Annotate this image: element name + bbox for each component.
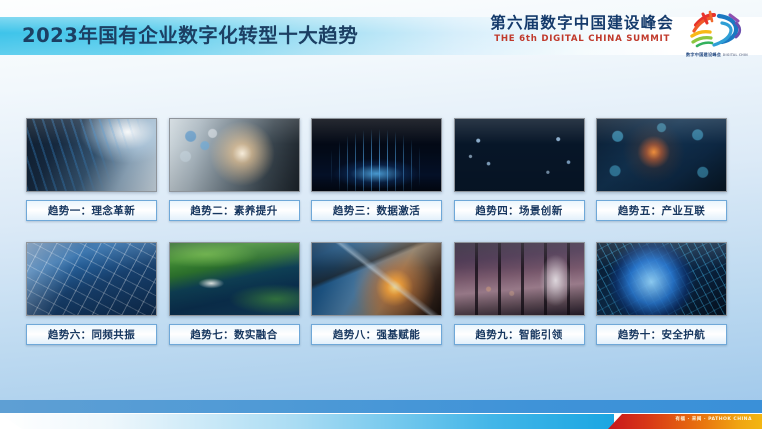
robot-city-window-image bbox=[454, 242, 585, 316]
summit-title-en: THE 6th DIGITAL CHINA SUMMIT bbox=[490, 35, 674, 44]
trend-card-row-2: 趋势六：同频共振 趋势七：数实融合 趋势八：强基赋能 bbox=[26, 242, 738, 345]
logo-caption: 数字中国建设峰会 DIGITAL CHINA SUMMIT bbox=[686, 52, 748, 58]
blue-globe-circuit-security-image bbox=[596, 242, 727, 316]
trend-card-1-label: 趋势一：理念革新 bbox=[26, 200, 157, 221]
slide-footer: 有福 · 来闽 · PATHOK CHINA bbox=[0, 400, 762, 429]
logo-caption-cn: 数字中国建设峰会 bbox=[686, 52, 721, 57]
trend-card-8[interactable]: 趋势八：强基赋能 bbox=[311, 242, 442, 345]
trend-card-6-label: 趋势六：同频共振 bbox=[26, 324, 157, 345]
modern-building-sunrise-image bbox=[311, 242, 442, 316]
summit-branding: 第六届数字中国建设峰会 THE 6th DIGITAL CHINA SUMMIT bbox=[490, 16, 674, 43]
industrial-iot-hub-image bbox=[596, 118, 727, 192]
trend-card-5[interactable]: 趋势五：产业互联 bbox=[596, 118, 727, 221]
page-title: 2023年国有企业数字化转型十大趋势 bbox=[22, 19, 358, 53]
trend-card-10-label: 趋势十：安全护航 bbox=[596, 324, 727, 345]
trend-card-9[interactable]: 趋势九：智能引领 bbox=[454, 242, 585, 345]
footer-blue-band bbox=[0, 400, 762, 413]
trend-card-10[interactable]: 趋势十：安全护航 bbox=[596, 242, 727, 345]
trend-card-8-label: 趋势八：强基赋能 bbox=[311, 324, 442, 345]
trend-card-3-label: 趋势三：数据激活 bbox=[311, 200, 442, 221]
trend-card-5-label: 趋势五：产业互联 bbox=[596, 200, 727, 221]
digital-china-summit-logo: 数字中国建设峰会 DIGITAL CHINA SUMMIT bbox=[686, 9, 748, 59]
presentation-slide: 2023年国有企业数字化转型十大趋势 第六届数字中国建设峰会 THE 6th D… bbox=[0, 0, 762, 429]
footer-slogan: 有福 · 来闽 · PATHOK CHINA bbox=[675, 416, 752, 422]
network-light-burst-image bbox=[454, 118, 585, 192]
trend-card-row-1: 趋势一：理念革新 趋势二：素养提升 趋势三：数据激活 bbox=[26, 118, 738, 221]
trend-card-4[interactable]: 趋势四：场景创新 bbox=[454, 118, 585, 221]
trend-card-6[interactable]: 趋势六：同频共振 bbox=[26, 242, 157, 345]
trend-card-2-label: 趋势二：素养提升 bbox=[169, 200, 300, 221]
trend-card-2[interactable]: 趋势二：素养提升 bbox=[169, 118, 300, 221]
green-forest-river-image bbox=[169, 242, 300, 316]
trend-card-1[interactable]: 趋势一：理念革新 bbox=[26, 118, 157, 221]
robotic-hand-control-panel-image bbox=[169, 118, 300, 192]
solar-panel-array-image bbox=[26, 242, 157, 316]
trend-card-7[interactable]: 趋势七：数实融合 bbox=[169, 242, 300, 345]
logo-caption-en: DIGITAL CHINA SUMMIT bbox=[723, 53, 748, 57]
blue-data-stream-waveform-image bbox=[311, 118, 442, 192]
trend-card-9-label: 趋势九：智能引领 bbox=[454, 324, 585, 345]
trend-card-3[interactable]: 趋势三：数据激活 bbox=[311, 118, 442, 221]
trend-card-grid: 趋势一：理念革新 趋势二：素养提升 趋势三：数据激活 bbox=[26, 118, 738, 345]
summit-title-cn: 第六届数字中国建设峰会 bbox=[490, 16, 674, 32]
trend-card-4-label: 趋势四：场景创新 bbox=[454, 200, 585, 221]
trend-card-7-label: 趋势七：数实融合 bbox=[169, 324, 300, 345]
footer-cyan-stripe bbox=[0, 414, 614, 429]
blue-keyboard-data-staircase-image bbox=[26, 118, 157, 192]
